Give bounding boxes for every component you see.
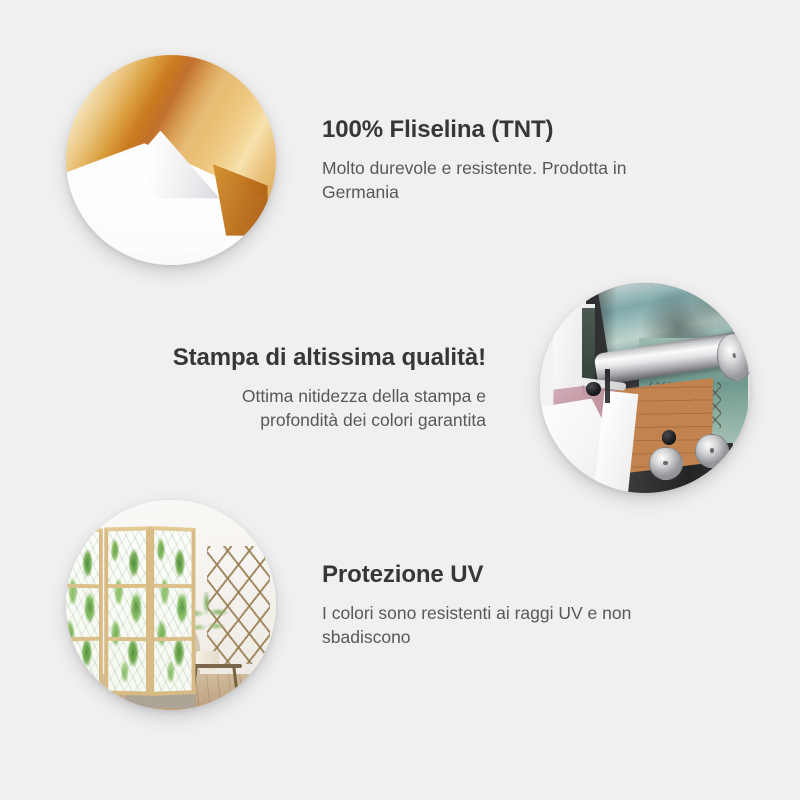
feature-copy-stampa: Stampa di altissima qualità! Ottima niti…	[140, 344, 530, 432]
divider-panel	[104, 527, 150, 696]
divider-rail	[154, 584, 192, 588]
media-wrap-stampa	[530, 273, 760, 503]
feature-block-uv: Protezione UV I colori sono resistenti a…	[56, 490, 756, 720]
feature-infographic: 100% Fliselina (TNT) Molto durevole e re…	[0, 0, 800, 800]
feature-subline: Molto durevole e resistente. Prodotta in…	[322, 156, 662, 204]
feature-subline: I colori sono resistenti ai raggi UV e n…	[322, 601, 662, 649]
large-format-printer-image	[540, 283, 750, 493]
media-wrap-uv	[56, 490, 286, 720]
leaf-veins	[154, 531, 192, 692]
media-wrap-fliselina	[56, 45, 286, 275]
feature-subline: Ottima nitidezza della stampa e profondi…	[186, 384, 486, 432]
feature-block-fliselina: 100% Fliselina (TNT) Molto durevole e re…	[56, 45, 756, 275]
divider-rail	[108, 637, 146, 641]
divider-panel	[150, 526, 196, 696]
feature-headline: 100% Fliselina (TNT)	[322, 116, 756, 145]
divider-rail	[108, 584, 146, 588]
tropical-leaf-room-divider-image	[66, 500, 276, 710]
leaf-veins	[66, 530, 99, 692]
leaf-veins	[108, 531, 146, 692]
feature-headline: Protezione UV	[322, 561, 756, 590]
printer-guide-post	[605, 369, 610, 403]
wallpaper-roll-peeled-corner-image	[66, 55, 276, 265]
feature-copy-fliselina: 100% Fliselina (TNT) Molto durevole e re…	[286, 116, 756, 204]
leaf-room-divider	[66, 527, 196, 695]
divider-panel	[66, 526, 103, 697]
printer-knob	[662, 430, 677, 445]
feature-headline: Stampa di altissima qualità!	[140, 344, 486, 373]
printer-feed-wheel	[649, 447, 683, 481]
feature-copy-uv: Protezione UV I colori sono resistenti a…	[286, 561, 756, 649]
feature-block-stampa: Stampa di altissima qualità! Ottima niti…	[140, 273, 760, 503]
printer-knob	[586, 382, 601, 397]
side-table-leg	[233, 667, 239, 694]
printer-feed-wheel	[695, 434, 729, 468]
